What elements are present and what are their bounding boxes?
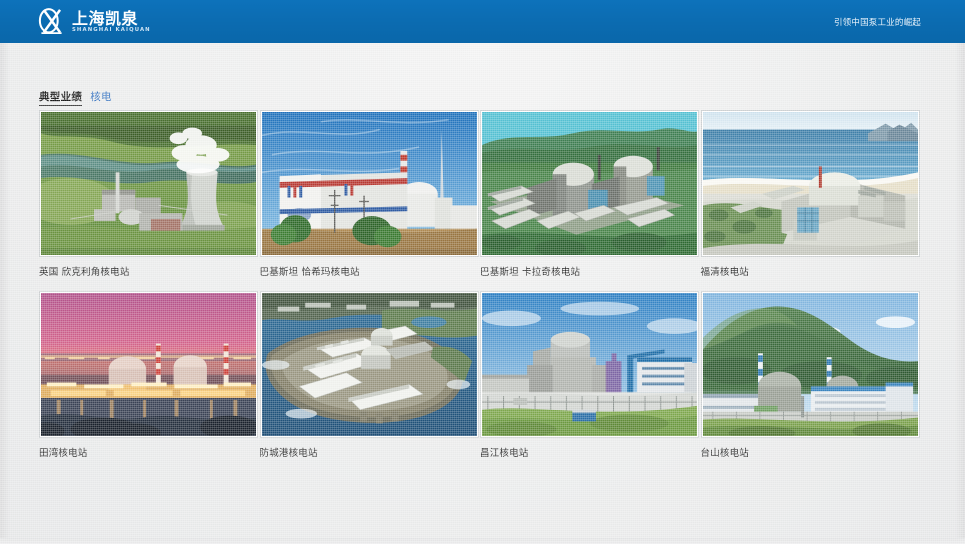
- page-edge-left: [0, 43, 10, 544]
- slide-canvas: 典型业绩 核电: [0, 43, 965, 544]
- project-thumbnail[interactable]: [39, 291, 258, 438]
- project-caption: 田湾核电站: [39, 445, 260, 459]
- mountain-twin-dome-image: [703, 293, 918, 436]
- peninsula-aerial-image: [262, 293, 477, 436]
- project-thumbnail[interactable]: [480, 110, 699, 257]
- header-slogan: 引领中国泵工业的崛起: [834, 16, 921, 28]
- project-thumbnail[interactable]: [480, 291, 699, 438]
- section-header: 典型业绩 核电: [39, 89, 112, 106]
- brand-logo[interactable]: 上海凯泉 SHANGHAI KAIQUAN: [36, 6, 149, 37]
- project-caption: 台山核电站: [701, 445, 922, 459]
- project-thumbnail[interactable]: [260, 291, 479, 438]
- project-caption: 昌江核电站: [480, 445, 701, 459]
- grey-reactor-ground-image: [482, 293, 697, 436]
- page-edge-right: [955, 43, 965, 544]
- brand-name-en: SHANGHAI KAIQUAN: [72, 27, 151, 34]
- header-bar: 上海凯泉 SHANGHAI KAIQUAN 引领中国泵工业的崛起: [0, 0, 965, 43]
- gallery-item[interactable]: 英国 欣克利角核电站: [39, 110, 260, 278]
- project-caption: 巴基斯坦 恰希玛核电站: [260, 264, 481, 278]
- kaiquan-logo-icon: [36, 6, 67, 37]
- white-plant-chimney-image: [262, 112, 477, 255]
- project-thumbnail[interactable]: [39, 110, 258, 257]
- coastal-dome-render-image: [703, 112, 918, 255]
- gallery-item[interactable]: 台山核电站: [701, 291, 922, 459]
- page-subtitle: 核电: [90, 89, 112, 104]
- project-thumbnail[interactable]: [701, 291, 920, 438]
- page-title: 典型业绩: [39, 89, 82, 106]
- project-caption: 防城港核电站: [260, 445, 481, 459]
- project-caption: 福清核电站: [701, 264, 922, 278]
- gallery-item[interactable]: 巴基斯坦 恰希玛核电站: [260, 110, 481, 278]
- gallery-item[interactable]: 田湾核电站: [39, 291, 260, 459]
- project-thumbnail[interactable]: [260, 110, 479, 257]
- gallery-item[interactable]: 福清核电站: [701, 110, 922, 278]
- gallery-item[interactable]: 防城港核电站: [260, 291, 481, 459]
- sunset-plant-image: [41, 293, 256, 436]
- brand-name-cn: 上海凯泉: [72, 10, 149, 27]
- twin-dome-render-image: [482, 112, 697, 255]
- footer-strip: [0, 538, 965, 544]
- cooling-tower-aerial-image: [41, 112, 256, 255]
- project-gallery: 英国 欣克利角核电站: [39, 110, 921, 459]
- project-caption: 英国 欣克利角核电站: [39, 264, 260, 278]
- gallery-row: 英国 欣克利角核电站: [39, 110, 921, 278]
- slide-root: 上海凯泉 SHANGHAI KAIQUAN 引领中国泵工业的崛起 典型业绩 核电: [0, 0, 965, 544]
- project-thumbnail[interactable]: [701, 110, 920, 257]
- gallery-item[interactable]: 巴基斯坦 卡拉奇核电站: [480, 110, 701, 278]
- project-caption: 巴基斯坦 卡拉奇核电站: [480, 264, 701, 278]
- gallery-item[interactable]: 昌江核电站: [480, 291, 701, 459]
- gallery-row: 田湾核电站: [39, 291, 921, 459]
